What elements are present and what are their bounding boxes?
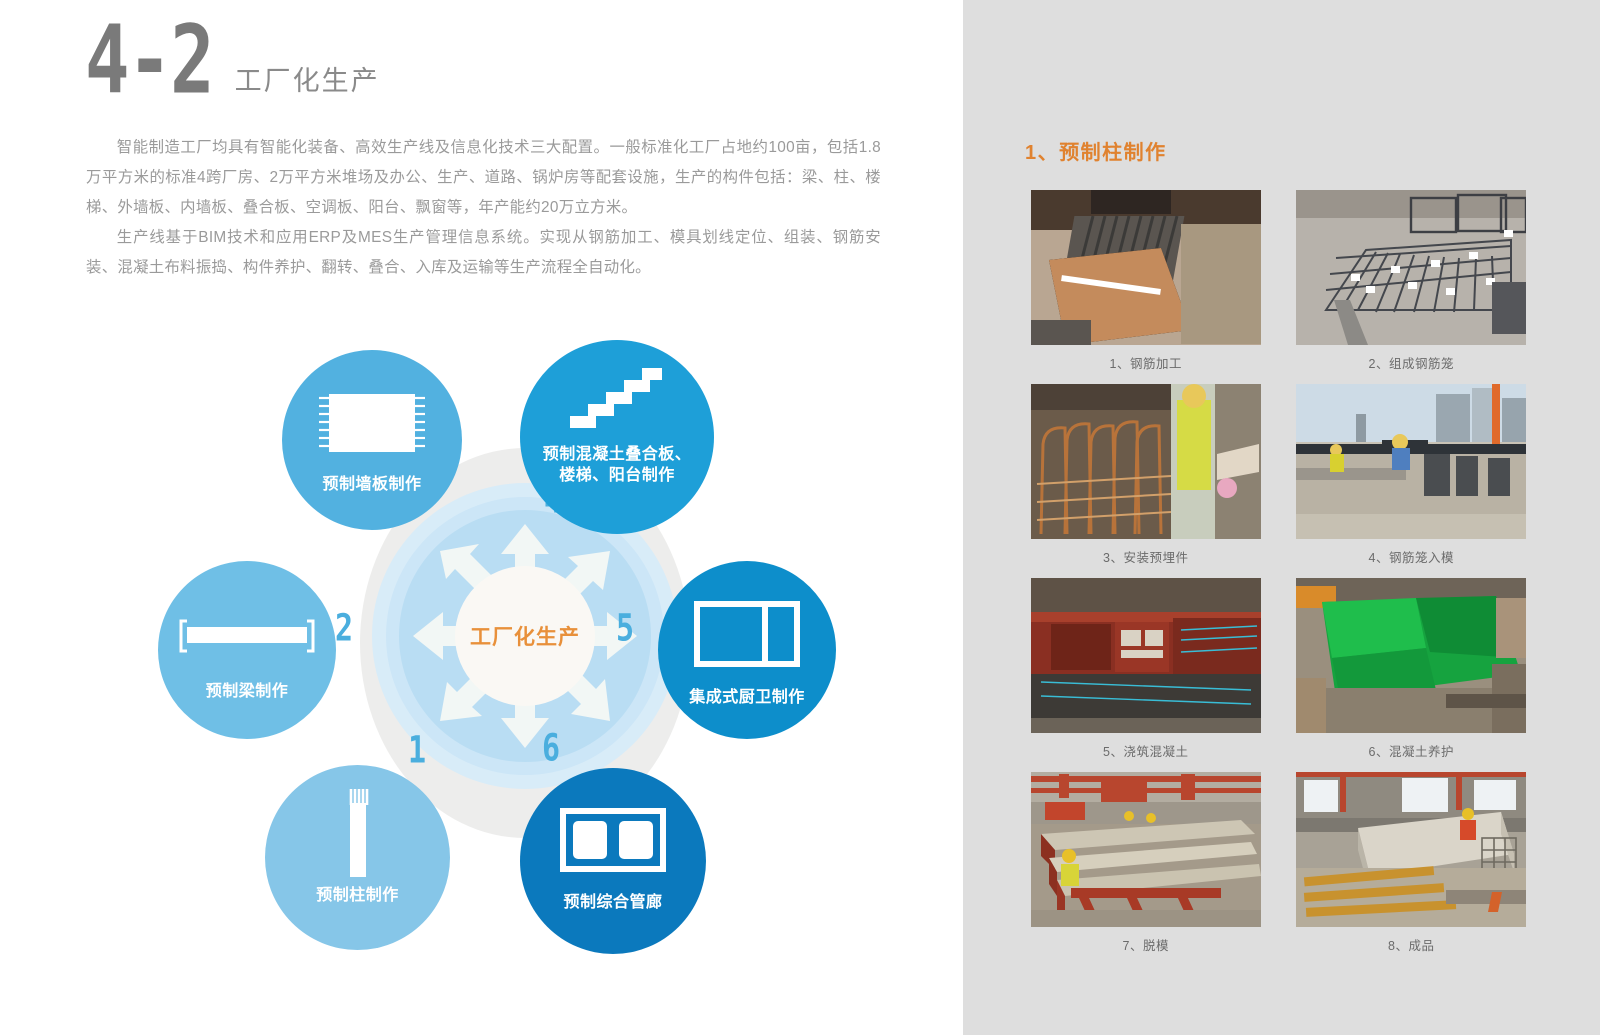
photo-cell-5[interactable]: 5、浇筑混凝土 <box>1021 578 1271 760</box>
right-panel: 1、预制柱制作 <box>963 0 1600 1035</box>
production-cycle-diagram: 工厂化生产 1 2 3 4 5 6 <box>150 318 850 958</box>
diagram-node-1-label: 预制柱制作 <box>316 885 399 906</box>
photo-cell-4[interactable]: 4、钢筋笼入模 <box>1287 384 1537 566</box>
diagram-node-6-utility-tunnel[interactable]: 预制综合管廊 <box>520 768 706 954</box>
photo-caption-6: 6、混凝土养护 <box>1369 741 1454 760</box>
left-panel: 4-2 工厂化生产 智能制造工厂均具有智能化装备、高效生产线及信息化技术三大配置… <box>0 0 963 1035</box>
photo-art-6 <box>1296 578 1526 733</box>
slide-page: 4-2 工厂化生产 智能制造工厂均具有智能化装备、高效生产线及信息化技术三大配置… <box>0 0 1600 1035</box>
beam-icon <box>177 609 317 665</box>
diagram-node-3-label: 预制墙板制作 <box>322 474 421 495</box>
photo-cell-6[interactable]: 6、混凝土养护 <box>1287 578 1537 760</box>
diagram-node-5-integrated-kitchen-bath[interactable]: 集成式厨卫制作 <box>658 561 836 739</box>
photo-cell-8[interactable]: 8、成品 <box>1287 772 1537 954</box>
hub-label: 工厂化生产 <box>470 621 580 651</box>
diagram-number-5: 5 <box>616 607 634 651</box>
photo-rebar-cage <box>1296 190 1526 345</box>
diagram-node-1-precast-column[interactable]: 预制柱制作 <box>265 765 450 950</box>
diagram-number-1: 1 <box>408 729 426 773</box>
section-title-text: 工厂化生产 <box>235 59 380 100</box>
paragraph-2: 生产线基于BIM技术和应用ERP及MES生产管理信息系统。实现从钢筋加工、模具划… <box>86 223 881 283</box>
wallpanel-icon <box>317 384 427 462</box>
pipegallery-icon <box>560 808 666 872</box>
paragraph-1: 智能制造工厂均具有智能化装备、高效生产线及信息化技术三大配置。一般标准化工厂占地… <box>86 133 881 223</box>
photo-caption-4: 4、钢筋笼入模 <box>1369 547 1454 566</box>
stairs-icon <box>562 366 672 436</box>
page-title: 4-2 工厂化生产 <box>85 38 380 100</box>
photo-cell-3[interactable]: 3、安装预埋件 <box>1021 384 1271 566</box>
photo-art-8 <box>1296 772 1526 927</box>
diagram-node-4-label-line2: 楼梯、阳台制作 <box>559 465 675 486</box>
diagram-node-3-precast-wallpanel[interactable]: 预制墙板制作 <box>282 350 462 530</box>
diagram-number-2: 2 <box>335 607 353 651</box>
photo-concrete-curing <box>1296 578 1526 733</box>
section-number: 4-2 <box>85 21 213 100</box>
kitchen-icon <box>694 601 800 667</box>
diagram-number-6: 6 <box>542 727 560 771</box>
photo-cell-7[interactable]: 7、脱模 <box>1021 772 1271 954</box>
photo-cell-1[interactable]: 1、钢筋加工 <box>1021 190 1271 372</box>
photo-caption-1: 1、钢筋加工 <box>1110 353 1182 372</box>
photo-art-4 <box>1296 384 1526 539</box>
photo-finished-product <box>1296 772 1526 927</box>
photo-cage-into-mould <box>1296 384 1526 539</box>
photo-caption-7: 7、脱模 <box>1123 935 1169 954</box>
photo-art-1 <box>1031 190 1261 345</box>
photo-embedded-parts <box>1031 384 1261 539</box>
diagram-hub: 工厂化生产 <box>455 566 595 706</box>
diagram-node-5-label: 集成式厨卫制作 <box>689 687 805 708</box>
diagram-node-4-label-line1: 预制混凝土叠合板、 <box>543 444 692 465</box>
body-copy: 智能制造工厂均具有智能化装备、高效生产线及信息化技术三大配置。一般标准化工厂占地… <box>86 133 881 283</box>
photo-caption-2: 2、组成钢筋笼 <box>1369 353 1454 372</box>
photo-art-2 <box>1296 190 1526 345</box>
diagram-node-2-label: 预制梁制作 <box>206 681 289 702</box>
photo-concrete-pouring <box>1031 578 1261 733</box>
photo-art-3 <box>1031 384 1261 539</box>
diagram-node-4-precast-slab-stair-balcony[interactable]: 预制混凝土叠合板、 楼梯、阳台制作 <box>520 340 714 534</box>
photo-art-7 <box>1031 772 1261 927</box>
photo-caption-5: 5、浇筑混凝土 <box>1103 741 1188 760</box>
diagram-node-2-precast-beam[interactable]: 预制梁制作 <box>158 561 336 739</box>
photo-caption-3: 3、安装预埋件 <box>1103 547 1188 566</box>
diagram-node-6-label: 预制综合管廊 <box>563 892 662 913</box>
right-section-title: 1、预制柱制作 <box>1025 136 1167 165</box>
photo-art-5 <box>1031 578 1261 733</box>
photo-grid: 1、钢筋加工 <box>1021 190 1536 954</box>
photo-cell-2[interactable]: 2、组成钢筋笼 <box>1287 190 1537 372</box>
photo-caption-8: 8、成品 <box>1388 935 1434 954</box>
photo-rebar-processing <box>1031 190 1261 345</box>
column-icon <box>328 787 388 879</box>
photo-demoulding <box>1031 772 1261 927</box>
